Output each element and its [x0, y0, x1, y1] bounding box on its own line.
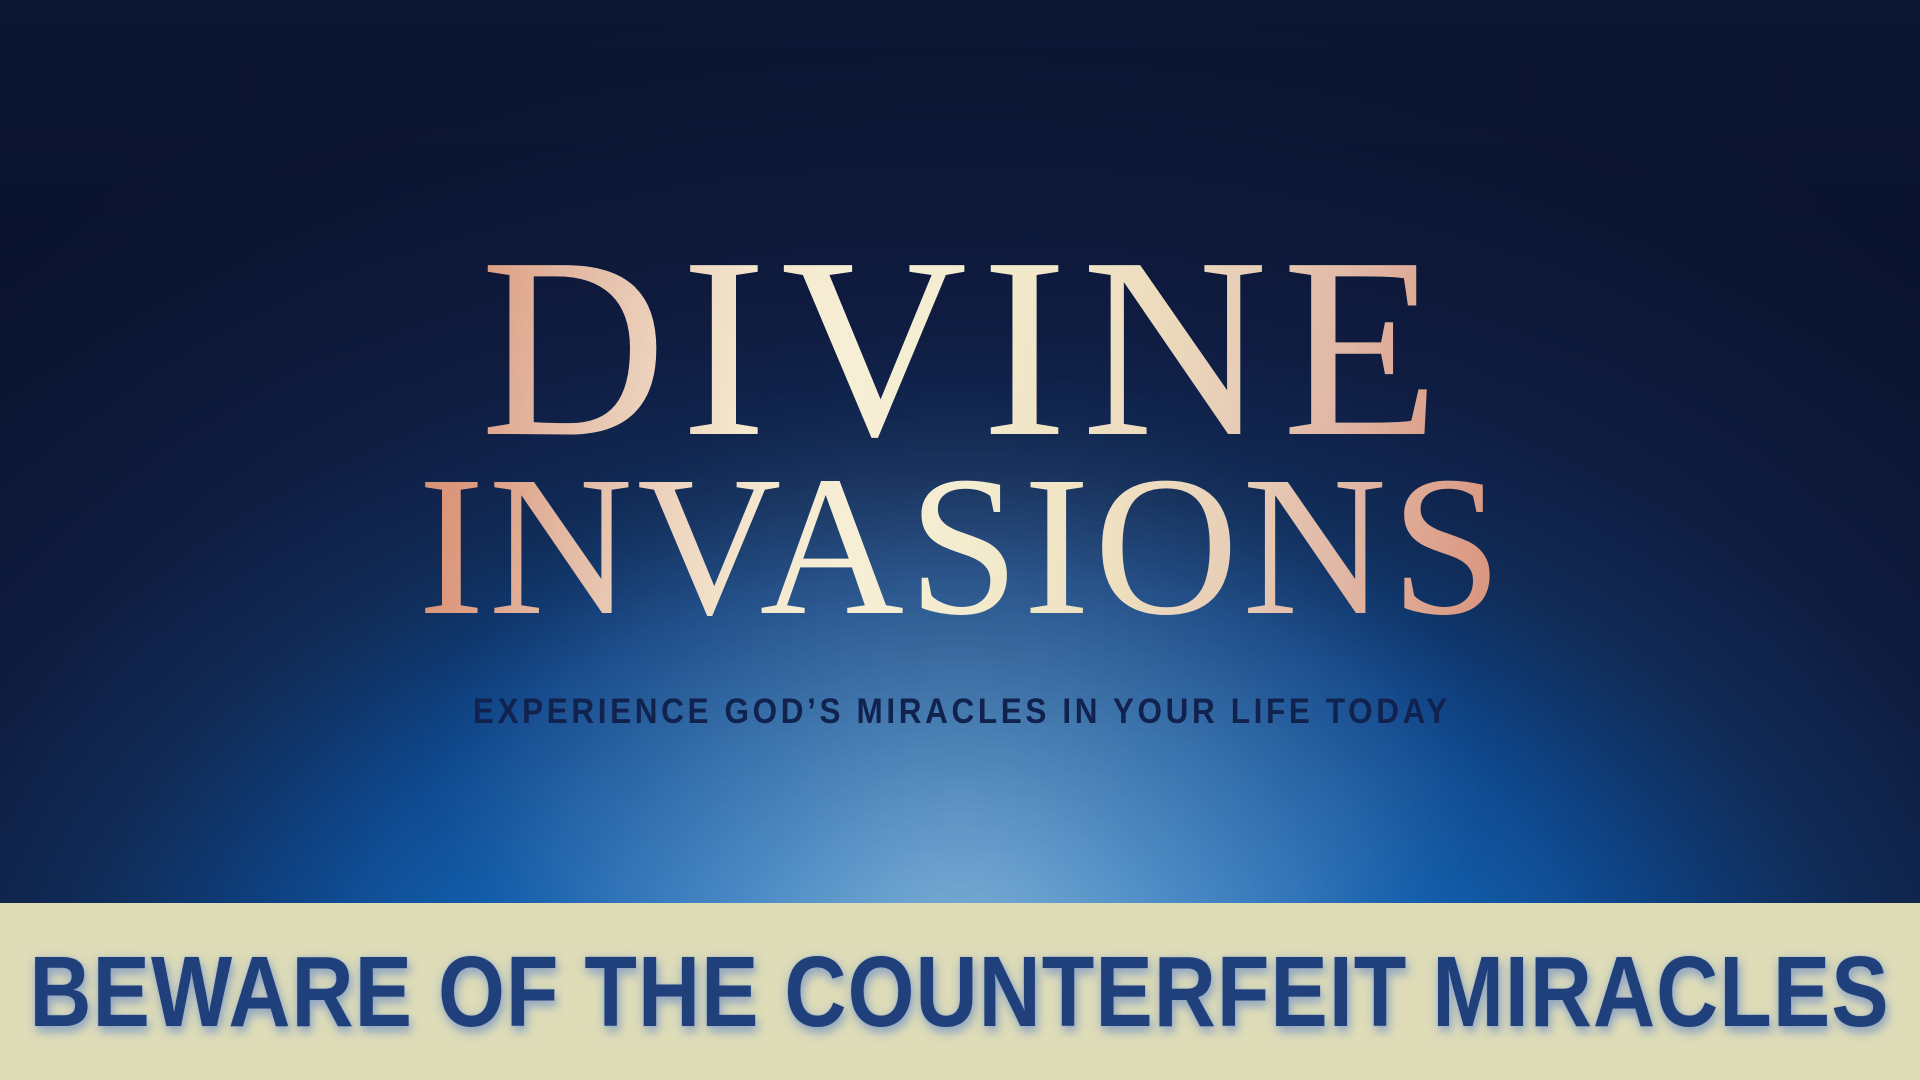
poster-title: DIVINE INVASIONS [370, 228, 1550, 640]
poster-tagline: EXPERIENCE GOD’S MIRACLES IN YOUR LIFE T… [330, 692, 1590, 732]
poster-canvas: DIVINE INVASIONS EXPERIENCE GOD’S MIRACL… [0, 0, 1920, 1080]
poster-content: DIVINE INVASIONS EXPERIENCE GOD’S MIRACL… [0, 0, 1920, 1080]
bottom-banner: BEWARE OF THE COUNTERFEIT MIRACLES [0, 903, 1920, 1080]
banner-headline: BEWARE OF THE COUNTERFEIT MIRACLES [30, 942, 1890, 1042]
title-line-invasions: INVASIONS [370, 454, 1550, 640]
title-line-divine: DIVINE [370, 228, 1550, 468]
